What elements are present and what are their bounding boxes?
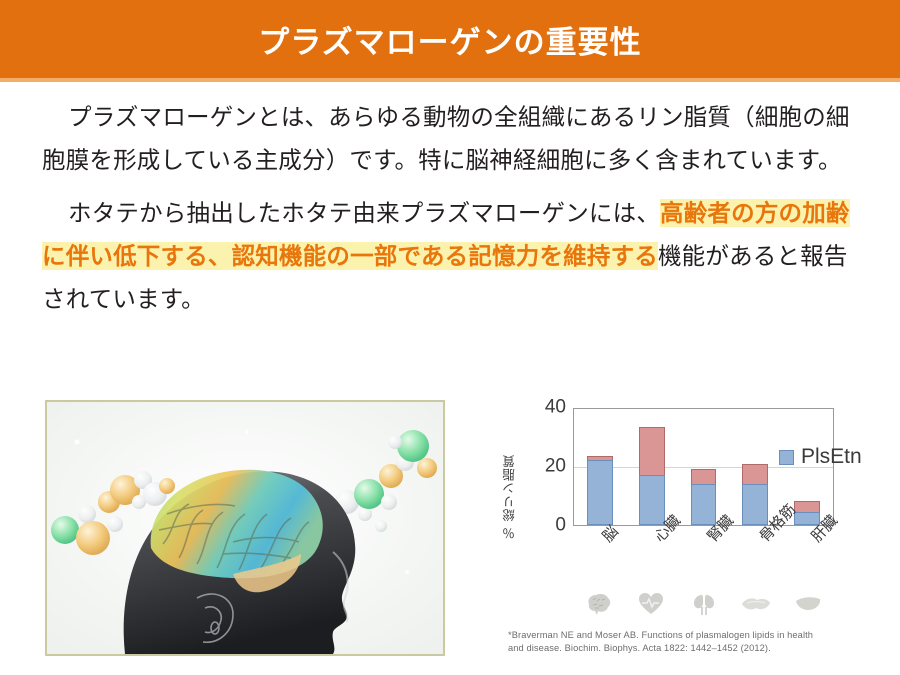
x-slot-brain: 脳 <box>573 528 625 580</box>
brain-head-illustration <box>45 400 445 656</box>
chart-x-labels: 脳 心臓 腎臓 骨格筋 肝臓 <box>573 528 834 580</box>
paragraph-2-pre: ホタテから抽出したホタテ由来プラズマローゲンには、 <box>68 200 660 226</box>
organ-slot-muscle <box>730 588 782 620</box>
header-underline <box>0 78 900 82</box>
y-tick-0: 0 <box>555 515 566 537</box>
bar-brain[interactable] <box>587 456 613 525</box>
bar-heart-other-segment <box>639 427 665 475</box>
paragraph-2: ホタテから抽出したホタテ由来プラズマローゲンには、高齢者の方の加齢に伴い低下する… <box>42 192 862 321</box>
brain-head-graphic <box>47 402 443 654</box>
legend-swatch-plsetn <box>779 450 794 465</box>
plasmalogen-bar-chart: ％ 総リン脂質 40 20 0 <box>498 396 848 596</box>
bar-heart[interactable] <box>639 427 665 525</box>
organ-slot-liver <box>782 588 834 620</box>
brain-organ-icon <box>585 592 613 616</box>
chart-y-axis-title: ％ 総リン脂質 <box>500 454 518 539</box>
y-tick-40: 40 <box>545 397 566 419</box>
legend-label-plsetn: PlsEtn <box>801 445 862 469</box>
bar-skeletal-muscle[interactable] <box>742 464 768 525</box>
bar-skeletal-muscle-plsetn-segment <box>742 484 768 525</box>
page-title: プラズマローゲンの重要性 <box>258 17 641 62</box>
x-slot-heart: 心臓 <box>625 528 677 580</box>
x-slot-skeletal-muscle: 骨格筋 <box>730 528 782 580</box>
organ-slot-brain <box>573 588 625 620</box>
bar-slot-brain <box>574 409 626 525</box>
bar-skeletal-muscle-other-segment <box>742 464 768 484</box>
organ-icon-row <box>573 588 834 620</box>
citation-line-2: and disease. Biochim. Biophys. Acta 1822… <box>508 642 883 655</box>
chart-legend: PlsEtn <box>779 445 862 469</box>
bar-kidney[interactable] <box>691 469 717 525</box>
citation-line-1: *Braverman NE and Moser AB. Functions of… <box>508 629 883 642</box>
bar-liver-other-segment <box>794 501 820 511</box>
x-slot-kidney: 腎臓 <box>677 528 729 580</box>
y-tick-20: 20 <box>545 456 566 478</box>
kidney-organ-icon <box>691 592 717 616</box>
organ-slot-heart <box>625 588 677 620</box>
bar-kidney-other-segment <box>691 469 717 484</box>
paragraph-1: プラズマローゲンとは、あらゆる動物の全組織にあるリン脂質（細胞の細胞膜を形成して… <box>42 96 862 182</box>
citation-block: *Braverman NE and Moser AB. Functions of… <box>508 629 883 655</box>
bar-brain-plsetn-segment <box>587 460 613 525</box>
muscle-organ-icon <box>741 595 771 613</box>
chart-y-ticks: 40 20 0 <box>518 396 570 528</box>
x-slot-liver: 肝臓 <box>782 528 834 580</box>
organ-slot-kidney <box>677 588 729 620</box>
bar-slot-heart <box>626 409 678 525</box>
liver-organ-icon <box>794 595 822 613</box>
bar-slot-skeletal-muscle <box>729 409 781 525</box>
slide-header: プラズマローゲンの重要性 <box>0 0 900 78</box>
heart-organ-icon <box>638 592 664 616</box>
bar-slot-kidney <box>678 409 730 525</box>
body-text-block: プラズマローゲンとは、あらゆる動物の全組織にあるリン脂質（細胞の細胞膜を形成して… <box>42 96 862 323</box>
